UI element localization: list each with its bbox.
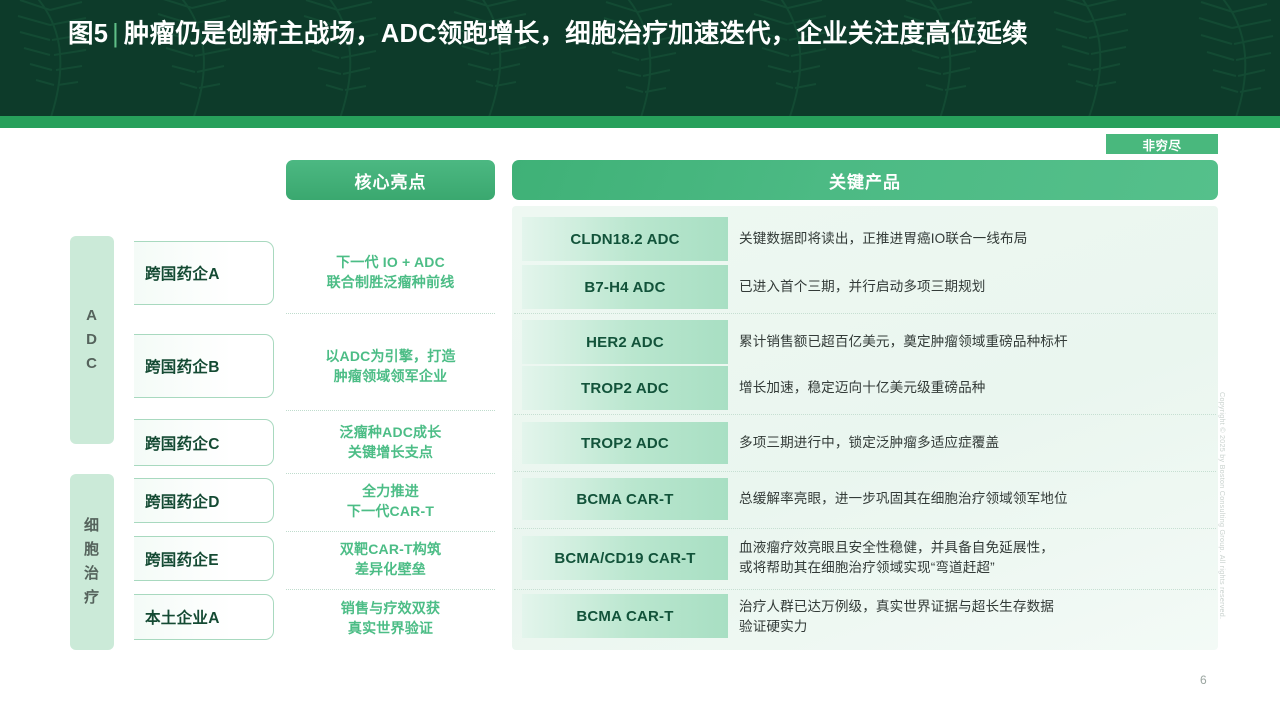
highlight-cell-5: 销售与疗效双获真实世界验证: [286, 590, 495, 646]
product-chip-3[interactable]: TROP2 ADC: [522, 366, 728, 410]
product-desc-7: 治疗人群已达万例级，真实世界证据与超长生存数据验证硬实力: [739, 594, 1209, 640]
product-desc-4: 多项三期进行中，锁定泛肿瘤多适应症覆盖: [739, 422, 1209, 464]
product-desc-6: 血液瘤疗效亮眼且安全性稳健，并具备自免延展性，或将帮助其在细胞治疗领域实现“弯道…: [739, 536, 1209, 580]
product-name: TROP2 ADC: [581, 435, 669, 452]
product-desc-5: 总缓解率亮眼，进一步巩固其在细胞治疗领域领军地位: [739, 478, 1209, 520]
desc-text: 治疗人群已达万例级，真实世界证据与超长生存数据验证硬实力: [739, 597, 1054, 637]
desc-text: 增长加速，稳定迈向十亿美元级重磅品种: [739, 378, 986, 398]
product-chip-2[interactable]: HER2 ADC: [522, 320, 728, 364]
company-name: 跨国药企B: [145, 355, 220, 377]
header-accent-bar: [0, 116, 1280, 128]
page-number: 6: [1200, 673, 1207, 687]
company-box-0[interactable]: 跨国药企A: [134, 241, 274, 305]
company-box-5[interactable]: 本土企业A: [134, 594, 274, 640]
category-label-adc: ADC: [81, 304, 103, 376]
company-name: 跨国药企A: [145, 262, 220, 284]
category-rail-adc: ADC: [70, 236, 114, 444]
highlight-text: 全力推进下一代CAR-T: [347, 481, 434, 521]
product-chip-4[interactable]: TROP2 ADC: [522, 422, 728, 464]
company-name: 跨国药企D: [145, 490, 220, 512]
desc-text: 总缓解率亮眼，进一步巩固其在细胞治疗领域领军地位: [739, 489, 1068, 509]
product-name: B7-H4 ADC: [584, 279, 665, 296]
highlight-divider: [286, 313, 495, 314]
product-row-divider: [514, 528, 1216, 529]
product-row-divider: [514, 589, 1216, 590]
title-separator: |: [108, 20, 124, 48]
company-name: 跨国药企E: [145, 548, 219, 570]
product-row-divider: [514, 414, 1216, 415]
highlight-cell-4: 双靶CAR-T构筑差异化壁垒: [286, 532, 495, 586]
desc-text: 累计销售额已超百亿美元，奠定肿瘤领域重磅品种标杆: [739, 332, 1068, 352]
product-name: BCMA CAR-T: [576, 608, 673, 625]
company-box-2[interactable]: 跨国药企C: [134, 419, 274, 466]
column-header-highlights: 核心亮点: [286, 160, 495, 200]
desc-text: 多项三期进行中，锁定泛肿瘤多适应症覆盖: [739, 433, 999, 453]
status-badge: 非穷尽: [1106, 134, 1218, 154]
product-chip-5[interactable]: BCMA CAR-T: [522, 478, 728, 520]
company-box-1[interactable]: 跨国药企B: [134, 334, 274, 398]
product-row-divider: [514, 313, 1216, 314]
product-desc-3: 增长加速，稳定迈向十亿美元级重磅品种: [739, 366, 1209, 410]
figure-label: 图5: [68, 20, 108, 48]
highlight-cell-3: 全力推进下一代CAR-T: [286, 474, 495, 528]
title-text: 肿瘤仍是创新主战场，ADC领跑增长，细胞治疗加速迭代，企业关注度高位延续: [124, 20, 1028, 48]
copyright-notice: Copyright © 2025 by Boston Consulting Gr…: [1218, 392, 1227, 619]
product-name: BCMA CAR-T: [576, 491, 673, 508]
highlight-text: 以ADC为引擎，打造肿瘤领域领军企业: [325, 346, 455, 386]
highlight-divider: [286, 410, 495, 411]
company-box-4[interactable]: 跨国药企E: [134, 536, 274, 581]
company-box-3[interactable]: 跨国药企D: [134, 478, 274, 523]
product-name: CLDN18.2 ADC: [570, 231, 679, 248]
product-chip-0[interactable]: CLDN18.2 ADC: [522, 217, 728, 261]
product-chip-1[interactable]: B7-H4 ADC: [522, 265, 728, 309]
highlight-text: 销售与疗效双获真实世界验证: [341, 598, 440, 638]
product-row-divider: [514, 471, 1216, 472]
highlight-cell-0: 下一代 IO + ADC联合制胜泛瘤种前线: [286, 236, 495, 308]
category-rail-cell-therapy: 细胞治疗: [70, 474, 114, 650]
highlight-text: 泛瘤种ADC成长关键增长支点: [340, 422, 442, 462]
desc-text: 已进入首个三期，并行启动多项三期规划: [739, 277, 986, 297]
category-label-cell-therapy: 细胞治疗: [81, 514, 103, 610]
product-chip-6[interactable]: BCMA/CD19 CAR-T: [522, 536, 728, 580]
desc-text: 血液瘤疗效亮眼且安全性稳健，并具备自免延展性，或将帮助其在细胞治疗领域实现“弯道…: [739, 538, 1054, 578]
product-name: TROP2 ADC: [581, 380, 669, 397]
highlight-text: 双靶CAR-T构筑差异化壁垒: [340, 539, 441, 579]
highlight-cell-2: 泛瘤种ADC成长关键增长支点: [286, 415, 495, 469]
highlight-text: 下一代 IO + ADC联合制胜泛瘤种前线: [327, 252, 455, 292]
product-name: BCMA/CD19 CAR-T: [554, 550, 695, 567]
page-title: 图5|肿瘤仍是创新主战场，ADC领跑增长，细胞治疗加速迭代，企业关注度高位延续: [68, 18, 1198, 51]
product-name: HER2 ADC: [586, 334, 664, 351]
product-desc-1: 已进入首个三期，并行启动多项三期规划: [739, 265, 1209, 309]
company-name: 本土企业A: [145, 606, 220, 628]
product-desc-2: 累计销售额已超百亿美元，奠定肿瘤领域重磅品种标杆: [739, 320, 1209, 364]
desc-text: 关键数据即将读出，正推进胃癌IO联合一线布局: [739, 229, 1027, 249]
product-chip-7[interactable]: BCMA CAR-T: [522, 594, 728, 638]
column-header-products: 关键产品: [512, 160, 1218, 200]
product-desc-0: 关键数据即将读出，正推进胃癌IO联合一线布局: [739, 217, 1209, 261]
highlight-cell-1: 以ADC为引擎，打造肿瘤领域领军企业: [286, 330, 495, 402]
company-name: 跨国药企C: [145, 432, 220, 454]
